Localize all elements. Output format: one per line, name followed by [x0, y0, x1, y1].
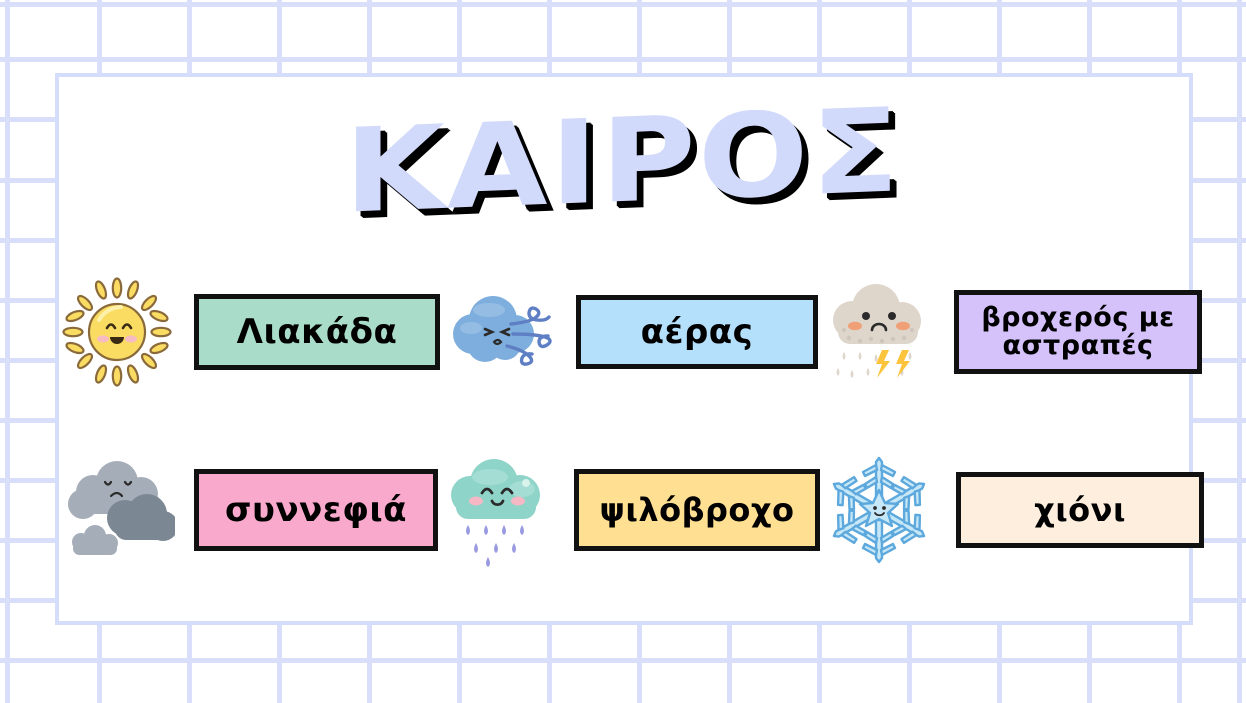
weather-label-text: χιόνι — [1034, 491, 1126, 529]
grid-line-horizontal — [0, 2, 1246, 7]
weather-item-sunny[interactable]: Λιακάδα — [58, 272, 440, 392]
weather-item-cloudy[interactable]: συννεφιά — [58, 450, 438, 570]
weather-label-cloudy[interactable]: συννεφιά — [194, 469, 438, 551]
weather-item-drizzle[interactable]: ψιλόβροχο — [438, 450, 820, 570]
weather-row-2: συννεφιά — [58, 450, 1188, 570]
weather-label-thunderstorm[interactable]: βροχερός μεαστραπές — [954, 290, 1202, 374]
grid-line-horizontal — [0, 57, 1246, 62]
weather-label-text: βροχερός μεαστραπές — [981, 304, 1174, 361]
weather-item-snow[interactable]: χιόνι — [820, 450, 1204, 570]
thunderstorm-cloud-icon — [818, 273, 936, 391]
grey-clouds-icon — [58, 451, 176, 569]
weather-poster: ΚΑΙΡΟΣ — [0, 0, 1246, 703]
grid-line-horizontal — [0, 658, 1246, 663]
rain-cloud-icon — [438, 451, 556, 569]
weather-row-1: Λιακάδα — [58, 272, 1188, 392]
weather-label-text: ψιλόβροχο — [599, 491, 794, 529]
weather-label-sunny[interactable]: Λιακάδα — [194, 294, 440, 370]
grid-line-vertical — [5, 0, 10, 703]
weather-item-windy[interactable]: αέρας — [440, 272, 818, 392]
weather-label-drizzle[interactable]: ψιλόβροχο — [574, 469, 820, 551]
windy-cloud-icon — [440, 273, 558, 391]
weather-label-windy[interactable]: αέρας — [576, 295, 818, 369]
grid-line-vertical — [1237, 0, 1242, 703]
weather-item-thunderstorm[interactable]: βροχερός μεαστραπές — [818, 272, 1202, 392]
weather-label-text: αέρας — [641, 312, 754, 352]
weather-label-snow[interactable]: χιόνι — [956, 472, 1204, 548]
weather-label-text: Λιακάδα — [237, 312, 398, 352]
snowflake-icon — [820, 451, 938, 569]
weather-label-text: συννεφιά — [225, 490, 407, 530]
sun-icon — [58, 273, 176, 391]
